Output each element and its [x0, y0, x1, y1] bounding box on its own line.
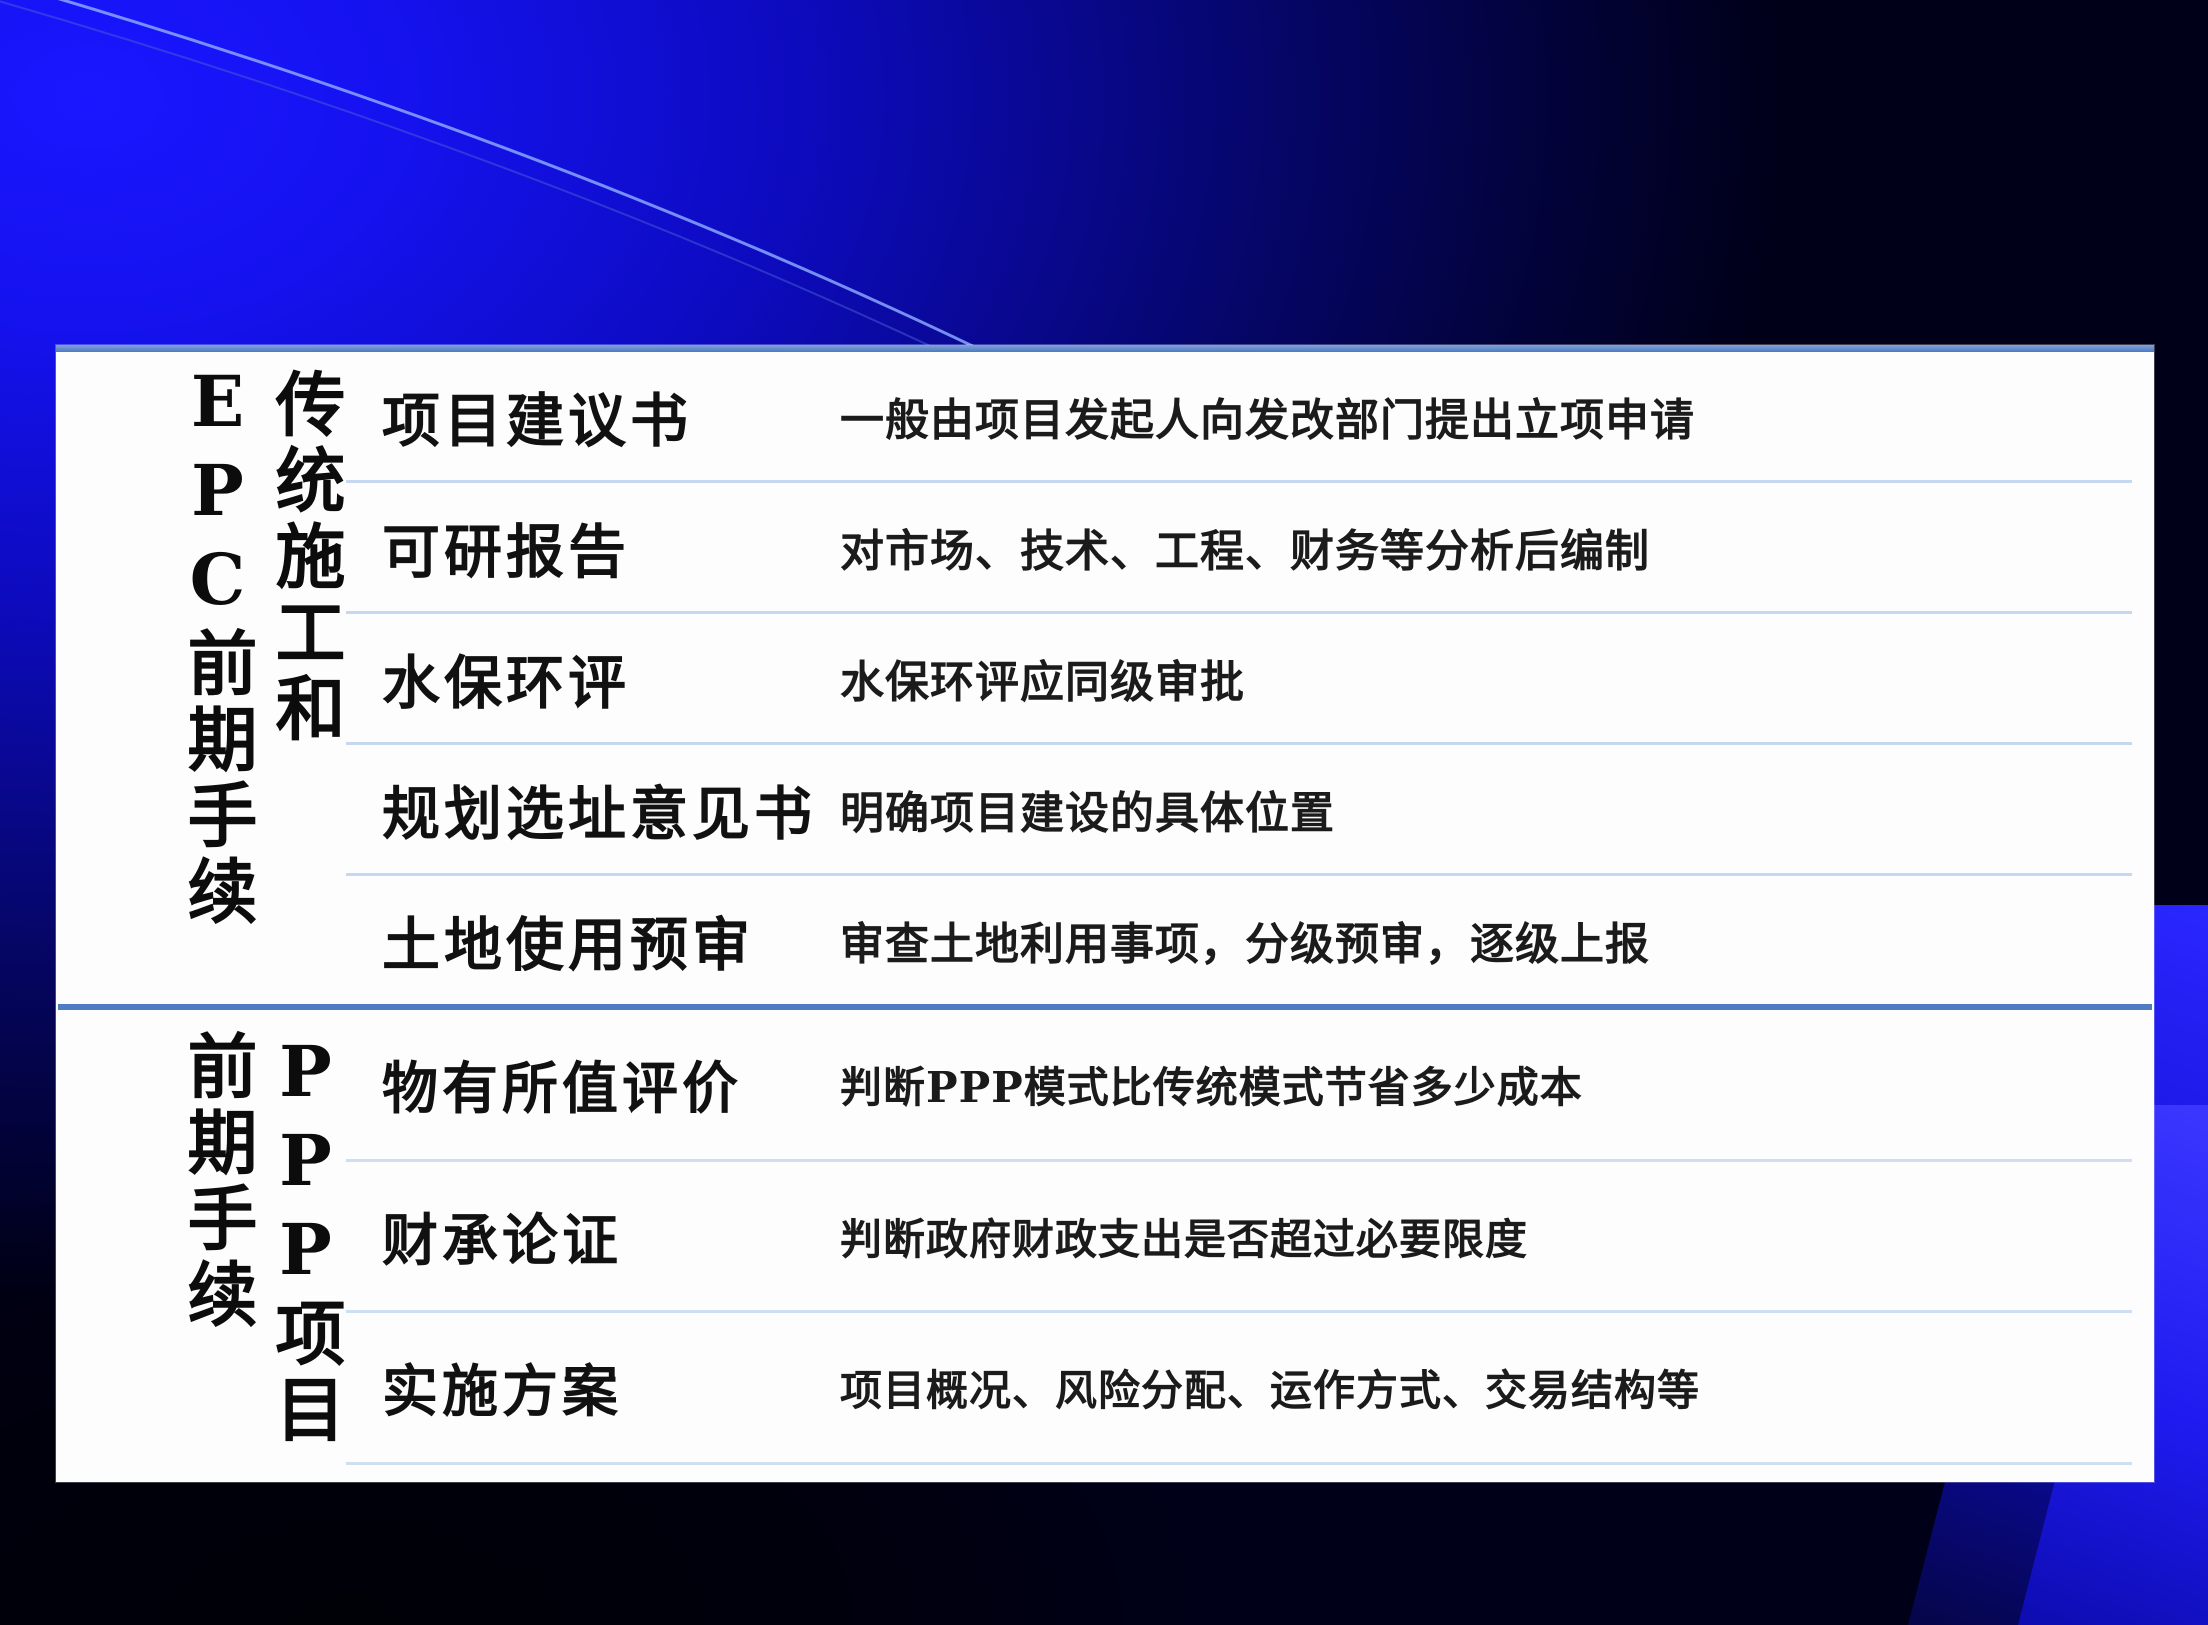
row-name: 可研报告 — [346, 505, 816, 589]
table-row[interactable]: 可研报告 对市场、技术、工程、财务等分析后编制 — [346, 483, 2132, 614]
row-name: 财承论证 — [346, 1196, 816, 1277]
row-description: 一般由项目发起人向发改部门提出立项申请 — [816, 384, 2132, 448]
section-epc-label-outer: EPC前期手续 — [182, 358, 252, 931]
section-epc-vertical-labels: 传统施工和 EPC前期手续 — [56, 352, 346, 1004]
row-description: 审查土地利用事项，分级预审，逐级上报 — [816, 908, 2132, 972]
row-name: 物有所值评价 — [346, 1044, 816, 1125]
table-row[interactable]: 物有所值评价 判断PPP模式比传统模式节省多少成本 — [346, 1010, 2132, 1162]
slide-canvas: 传统施工和 EPC前期手续 项目建议书 一般由项目发起人向发改部门提出立项申请 … — [0, 0, 2208, 1625]
section-epc-label-inner: 传统施工和 — [270, 358, 340, 748]
row-name: 项目建议书 — [346, 374, 816, 458]
row-description: 水保环评应同级审批 — [816, 646, 2132, 710]
section-epc-rows: 项目建议书 一般由项目发起人向发改部门提出立项申请 可研报告 对市场、技术、工程… — [346, 352, 2154, 1004]
row-description: 判断PPP模式比传统模式节省多少成本 — [816, 1054, 2132, 1115]
row-name: 水保环评 — [346, 636, 816, 720]
table-row[interactable]: 水保环评 水保环评应同级审批 — [346, 614, 2132, 745]
table-row[interactable]: 土地使用预审 审查土地利用事项，分级预审，逐级上报 — [346, 876, 2132, 1004]
content-card: 传统施工和 EPC前期手续 项目建议书 一般由项目发起人向发改部门提出立项申请 … — [56, 345, 2154, 1482]
row-description: 对市场、技术、工程、财务等分析后编制 — [816, 515, 2132, 579]
section-epc: 传统施工和 EPC前期手续 项目建议书 一般由项目发起人向发改部门提出立项申请 … — [56, 352, 2154, 1004]
section-ppp-label-outer: 前期手续 — [182, 1016, 252, 1334]
section-ppp-rows: 物有所值评价 判断PPP模式比传统模式节省多少成本 财承论证 判断政府财政支出是… — [346, 1010, 2154, 1465]
card-top-rule — [56, 345, 2154, 352]
table-row[interactable]: 项目建议书 一般由项目发起人向发改部门提出立项申请 — [346, 352, 2132, 483]
row-description: 明确项目建设的具体位置 — [816, 777, 2132, 841]
section-ppp-vertical-labels: PPP项目 前期手续 — [56, 1010, 346, 1465]
row-description: 判断政府财政支出是否超过必要限度 — [816, 1206, 2132, 1267]
table-row[interactable]: 规划选址意见书 明确项目建设的具体位置 — [346, 745, 2132, 876]
table-row[interactable]: 财承论证 判断政府财政支出是否超过必要限度 — [346, 1162, 2132, 1314]
section-ppp: PPP项目 前期手续 物有所值评价 判断PPP模式比传统模式节省多少成本 财承论… — [56, 1010, 2154, 1465]
row-name: 规划选址意见书 — [346, 767, 816, 851]
row-name: 土地使用预审 — [346, 898, 816, 982]
row-name: 实施方案 — [346, 1347, 816, 1428]
table-row[interactable]: 实施方案 项目概况、风险分配、运作方式、交易结构等 — [346, 1313, 2132, 1465]
section-ppp-label-inner: PPP项目 — [270, 1016, 340, 1449]
row-description: 项目概况、风险分配、运作方式、交易结构等 — [816, 1357, 2132, 1418]
